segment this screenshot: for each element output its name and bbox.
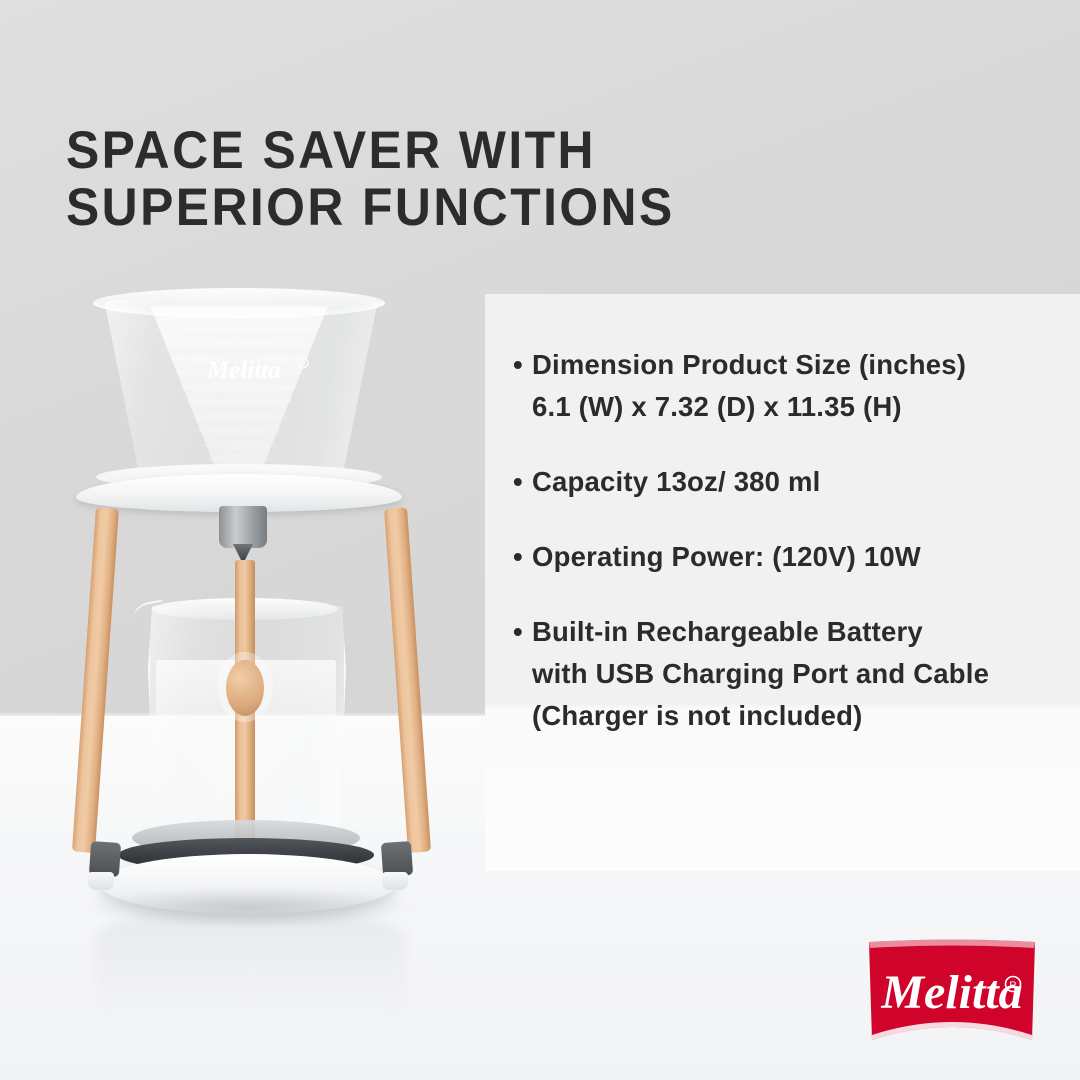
spec-group-battery: Built-in Rechargeable Batterywith USB Ch… [513, 611, 1053, 737]
spec-line-battery-1: with USB Charging Port and Cable [513, 653, 1053, 695]
dripper-cone-ribs [150, 310, 328, 480]
svg-text:R: R [1009, 981, 1016, 992]
floor-reflection [96, 906, 406, 1016]
svg-text:Melitta: Melitta [880, 966, 1022, 1019]
headline-line-1: SPACE SAVER WITH [66, 122, 837, 179]
dripper-melitta-logo: Melitta R [205, 352, 315, 386]
spec-bullet-battery: Built-in Rechargeable Battery [513, 611, 1053, 653]
svg-text:Melitta: Melitta [206, 357, 281, 384]
headline-line-2: SUPERIOR FUNCTIONS [66, 179, 837, 236]
spec-line-dimension-1: 6.1 (W) x 7.32 (D) x 11.35 (H) [513, 386, 1053, 428]
spec-line-battery-2: (Charger is not included) [513, 695, 1053, 737]
svg-text:R: R [300, 362, 305, 369]
melitta-logo: Melitta R [866, 936, 1038, 1046]
page-title: SPACE SAVER WITH SUPERIOR FUNCTIONS [66, 122, 837, 236]
specifications-list: Dimension Product Size (inches)6.1 (W) x… [513, 344, 1053, 737]
wooden-leg-right [384, 507, 431, 853]
infographic-canvas: Melitta R SPACE SAVER WITH SUPERIOR F [0, 0, 1080, 1080]
spec-bullet-capacity: Capacity 13oz/ 380 ml [513, 461, 1053, 503]
wooden-leg-left [72, 507, 119, 853]
spec-group-dimension: Dimension Product Size (inches)6.1 (W) x… [513, 344, 1053, 428]
spec-group-capacity: Capacity 13oz/ 380 ml [513, 461, 1053, 503]
spec-bullet-operating-power: Operating Power: (120V) 10W [513, 536, 1053, 578]
brew-hub [219, 506, 267, 548]
brew-nozzle [233, 544, 253, 560]
leg-foot-left [88, 872, 114, 890]
spec-group-operating-power: Operating Power: (120V) 10W [513, 536, 1053, 578]
spec-bullet-dimension: Dimension Product Size (inches) [513, 344, 1053, 386]
leg-foot-right [382, 872, 408, 890]
wooden-knob [226, 660, 264, 716]
